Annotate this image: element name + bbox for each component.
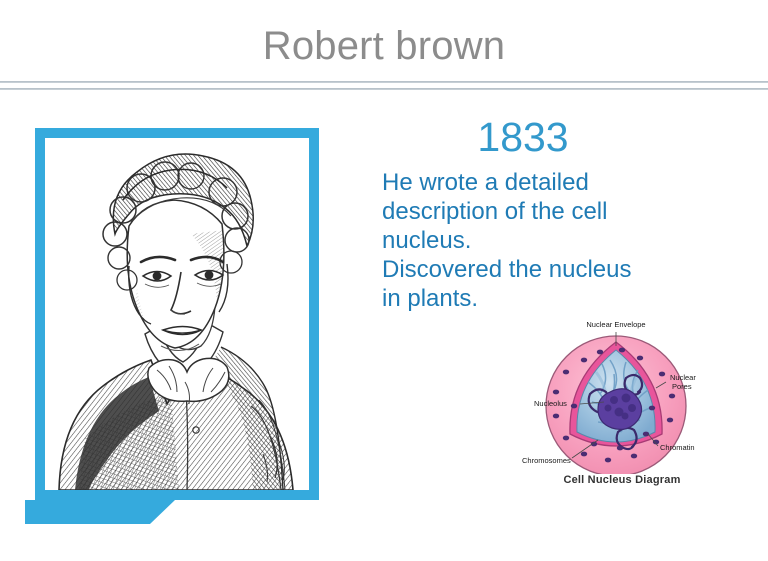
label-nucleolus: Nucleolus <box>534 399 567 408</box>
year-heading: 1833 <box>382 112 742 162</box>
body-line: nucleus. <box>382 226 742 255</box>
label-nuclear-pores-line2: Pores <box>672 382 692 391</box>
portrait-frame-bottom-edge <box>35 490 319 500</box>
portrait-frame <box>25 128 319 500</box>
portrait-frame-top-edge <box>35 128 319 138</box>
diagram-caption: Cell Nucleus Diagram <box>506 474 738 486</box>
title-divider-upper <box>0 81 768 83</box>
label-nuclear-envelope: Nuclear Envelope <box>586 320 645 329</box>
portrait-image-container <box>45 138 309 490</box>
portrait-frame-left-edge <box>35 128 45 500</box>
cell-nucleus-illustration: Nuclear Envelope Nuclear Pores Nucleolus… <box>506 316 738 474</box>
body-text: He wrote a detailed description of the c… <box>382 168 742 313</box>
portrait-frame-bottom-band <box>25 500 175 524</box>
content-column: 1833 He wrote a detailed description of … <box>382 112 742 313</box>
portrait-frame-right-edge <box>309 128 319 500</box>
body-line: He wrote a detailed <box>382 168 742 197</box>
title-area: Robert brown <box>0 18 768 78</box>
label-chromosomes: Chromosomes <box>522 456 571 465</box>
page-title: Robert brown <box>0 18 768 74</box>
slide-canvas: Robert brown <box>0 0 768 561</box>
body-line: Discovered the nucleus <box>382 255 742 284</box>
label-chromatin: Chromatin <box>660 443 695 452</box>
cell-nucleus-diagram: Nuclear Envelope Nuclear Pores Nucleolus… <box>506 316 738 502</box>
title-divider-lower <box>0 88 768 90</box>
robert-brown-portrait-image <box>45 138 309 490</box>
body-line: description of the cell <box>382 197 742 226</box>
body-line: in plants. <box>382 284 742 313</box>
label-nuclear-pores-line1: Nuclear <box>670 373 696 382</box>
